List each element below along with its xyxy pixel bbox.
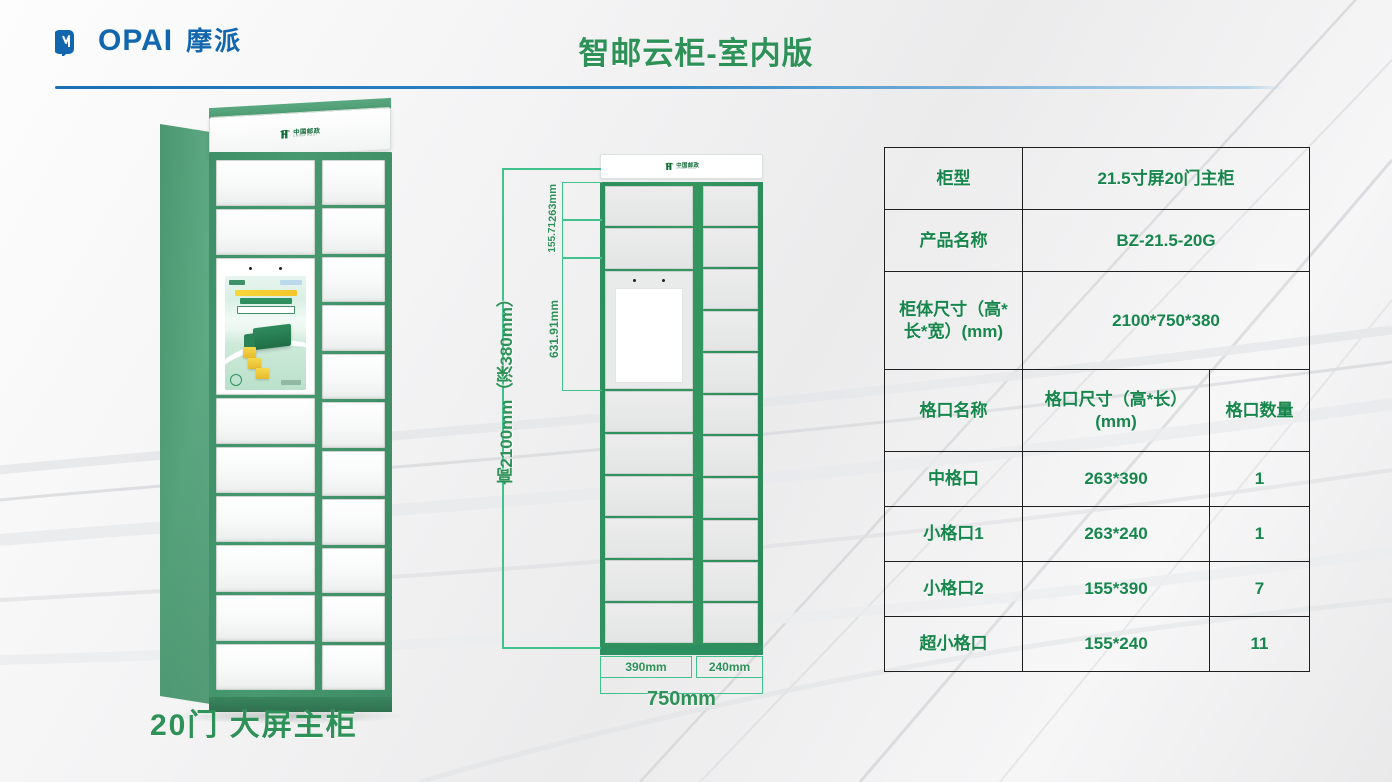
diagram-door bbox=[703, 603, 758, 643]
diagram-door bbox=[703, 395, 758, 435]
locker-door bbox=[322, 451, 385, 496]
china-post-en: CHINA POST bbox=[293, 134, 320, 139]
cell-size: 155*240 bbox=[1023, 617, 1210, 672]
ad-parcel-box bbox=[243, 347, 256, 358]
diagram-door bbox=[703, 562, 758, 602]
china-post-wordmark: 中国邮政 CHINA POST bbox=[676, 162, 699, 170]
locker-door bbox=[322, 160, 385, 205]
locker-door bbox=[216, 447, 315, 493]
locker-screen-panel bbox=[216, 258, 315, 395]
dimension-segment-631-bracket bbox=[562, 258, 602, 391]
locker-door bbox=[322, 548, 385, 593]
ad-footer-logo-icon bbox=[230, 374, 242, 386]
diagram-door bbox=[605, 186, 693, 226]
locker-door bbox=[322, 354, 385, 399]
camera-sensor-dots-icon bbox=[606, 279, 692, 282]
cell-qty: 11 bbox=[1210, 617, 1310, 672]
locker-door bbox=[216, 496, 315, 542]
diagram-right-column bbox=[703, 186, 758, 643]
china-post-logo: 中国邮政 CHINA POST bbox=[664, 162, 699, 171]
dimension-segment-263-bracket bbox=[562, 182, 602, 220]
cell-name: 小格口1 bbox=[885, 507, 1023, 562]
spec-value-product-name: BZ-21.5-20G bbox=[1023, 210, 1310, 272]
ad-footer-text-bar bbox=[281, 380, 301, 385]
cell-name: 中格口 bbox=[885, 452, 1023, 507]
diagram-door bbox=[703, 311, 758, 351]
dimension-631-label: 631.91mm bbox=[547, 300, 561, 358]
side-panel-shading bbox=[160, 124, 212, 704]
locker-door bbox=[216, 545, 315, 591]
diagram-door bbox=[605, 560, 693, 600]
ad-logo-chip bbox=[229, 280, 245, 285]
locker-door bbox=[322, 499, 385, 544]
locker-door bbox=[216, 209, 315, 255]
specification-table: 柜型 21.5寸屏20门主柜 产品名称 BZ-21.5-20G 柜体尺寸（高*长… bbox=[884, 147, 1310, 672]
diagram-door bbox=[605, 603, 693, 643]
table-row: 柜体尺寸（高*长*宽）(mm) 2100*750*380 bbox=[885, 272, 1310, 370]
cell-size: 263*390 bbox=[1023, 452, 1210, 507]
cell-size: 263*240 bbox=[1023, 507, 1210, 562]
ad-headline-line2 bbox=[240, 298, 292, 304]
table-row: 中格口 263*390 1 bbox=[885, 452, 1310, 507]
ad-headline-line1 bbox=[235, 290, 297, 296]
diagram-door bbox=[605, 434, 693, 474]
cell-qty: 1 bbox=[1210, 452, 1310, 507]
diagram-door bbox=[703, 520, 758, 560]
table-row: 小格口2 155*390 7 bbox=[885, 562, 1310, 617]
cell-name: 超小格口 bbox=[885, 617, 1023, 672]
camera-sensor-dots-icon bbox=[217, 267, 314, 270]
table-row: 超小格口 155*240 11 bbox=[885, 617, 1310, 672]
spec-value-cabinet-size: 2100*750*380 bbox=[1023, 272, 1310, 370]
spec-label-cabinet-size: 柜体尺寸（高*长*宽）(mm) bbox=[885, 272, 1023, 370]
page-title: 智邮云柜-室内版 bbox=[0, 28, 1392, 73]
locker-door bbox=[216, 595, 315, 641]
locker-left-column bbox=[216, 160, 315, 690]
ad-headline-line3 bbox=[237, 306, 295, 314]
china-post-en: CHINA POST bbox=[676, 168, 699, 171]
table-row: 产品名称 BZ-21.5-20G bbox=[885, 210, 1310, 272]
diagram-base bbox=[600, 645, 763, 655]
header-divider bbox=[55, 86, 1285, 89]
diagram-door bbox=[703, 228, 758, 268]
dimension-width-left: 390mm bbox=[600, 656, 692, 678]
dimension-263-label: 263mm bbox=[547, 184, 559, 222]
cell-qty: 1 bbox=[1210, 507, 1310, 562]
locker-door bbox=[322, 596, 385, 641]
locker-right-column bbox=[322, 160, 385, 690]
spec-label-product-name: 产品名称 bbox=[885, 210, 1023, 272]
china-post-logo: 中国邮政 CHINA POST bbox=[280, 127, 321, 140]
locker-door bbox=[322, 645, 385, 690]
ad-headline bbox=[230, 290, 301, 314]
diagram-cabinet-body bbox=[600, 182, 763, 647]
render-caption: 20门 大屏主柜 bbox=[150, 700, 358, 744]
diagram-door bbox=[703, 186, 758, 226]
spec-value-cabinet-type: 21.5寸屏20门主柜 bbox=[1023, 148, 1310, 210]
product-render: 中国邮政 CHINA POST bbox=[40, 100, 470, 700]
locker-body bbox=[209, 152, 392, 712]
diagram-door bbox=[605, 391, 693, 431]
dimension-width-right: 240mm bbox=[696, 656, 763, 678]
china-post-emblem-icon bbox=[664, 162, 673, 171]
spec-label-cabinet-type: 柜型 bbox=[885, 148, 1023, 210]
column-header-cell-name: 格口名称 bbox=[885, 370, 1023, 452]
locker-door bbox=[216, 160, 315, 206]
diagram-door bbox=[703, 478, 758, 518]
ad-badge-chip bbox=[280, 280, 302, 285]
dimension-segment-155-bracket bbox=[562, 220, 602, 258]
diagram-door bbox=[703, 353, 758, 393]
diagram-screen bbox=[615, 288, 683, 384]
dimension-height-label: 高2100mm（深380mm） bbox=[494, 290, 519, 485]
diagram-top-banner: 中国邮政 CHINA POST bbox=[600, 154, 763, 179]
dimension-total-width-label: 750mm bbox=[600, 688, 763, 711]
diagram-left-column bbox=[605, 186, 693, 643]
dimension-155-label: 155.71 bbox=[547, 222, 558, 253]
locker-door bbox=[216, 644, 315, 690]
column-header-cell-size: 格口尺寸（高*长）(mm) bbox=[1023, 370, 1210, 452]
diagram-door bbox=[605, 228, 693, 268]
table-row: 柜型 21.5寸屏20门主柜 bbox=[885, 148, 1310, 210]
table-row: 小格口1 263*240 1 bbox=[885, 507, 1310, 562]
diagram-screen-panel bbox=[605, 271, 693, 390]
china-post-emblem-icon bbox=[280, 128, 291, 140]
locker-side-panel bbox=[160, 124, 212, 704]
ad-parcel-box bbox=[256, 368, 269, 379]
locker-door bbox=[322, 402, 385, 447]
locker-door bbox=[322, 305, 385, 350]
dimension-diagram: 中国邮政 CHINA POST bbox=[490, 140, 820, 690]
table-header-row: 格口名称 格口尺寸（高*长）(mm) 格口数量 bbox=[885, 370, 1310, 452]
page-header: OPAI 摩派 智邮云柜-室内版 bbox=[0, 0, 1392, 95]
locker-door bbox=[322, 257, 385, 302]
locker-door bbox=[216, 398, 315, 444]
diagram-door bbox=[605, 476, 693, 516]
column-header-cell-qty: 格口数量 bbox=[1210, 370, 1310, 452]
diagram-door bbox=[703, 269, 758, 309]
cell-name: 小格口2 bbox=[885, 562, 1023, 617]
advertisement-screen bbox=[225, 276, 306, 390]
china-post-wordmark: 中国邮政 CHINA POST bbox=[293, 128, 320, 139]
locker-door bbox=[322, 208, 385, 253]
ad-top-bar bbox=[229, 279, 302, 285]
diagram-door bbox=[605, 518, 693, 558]
diagram-door bbox=[703, 436, 758, 476]
cell-qty: 7 bbox=[1210, 562, 1310, 617]
cell-size: 155*390 bbox=[1023, 562, 1210, 617]
